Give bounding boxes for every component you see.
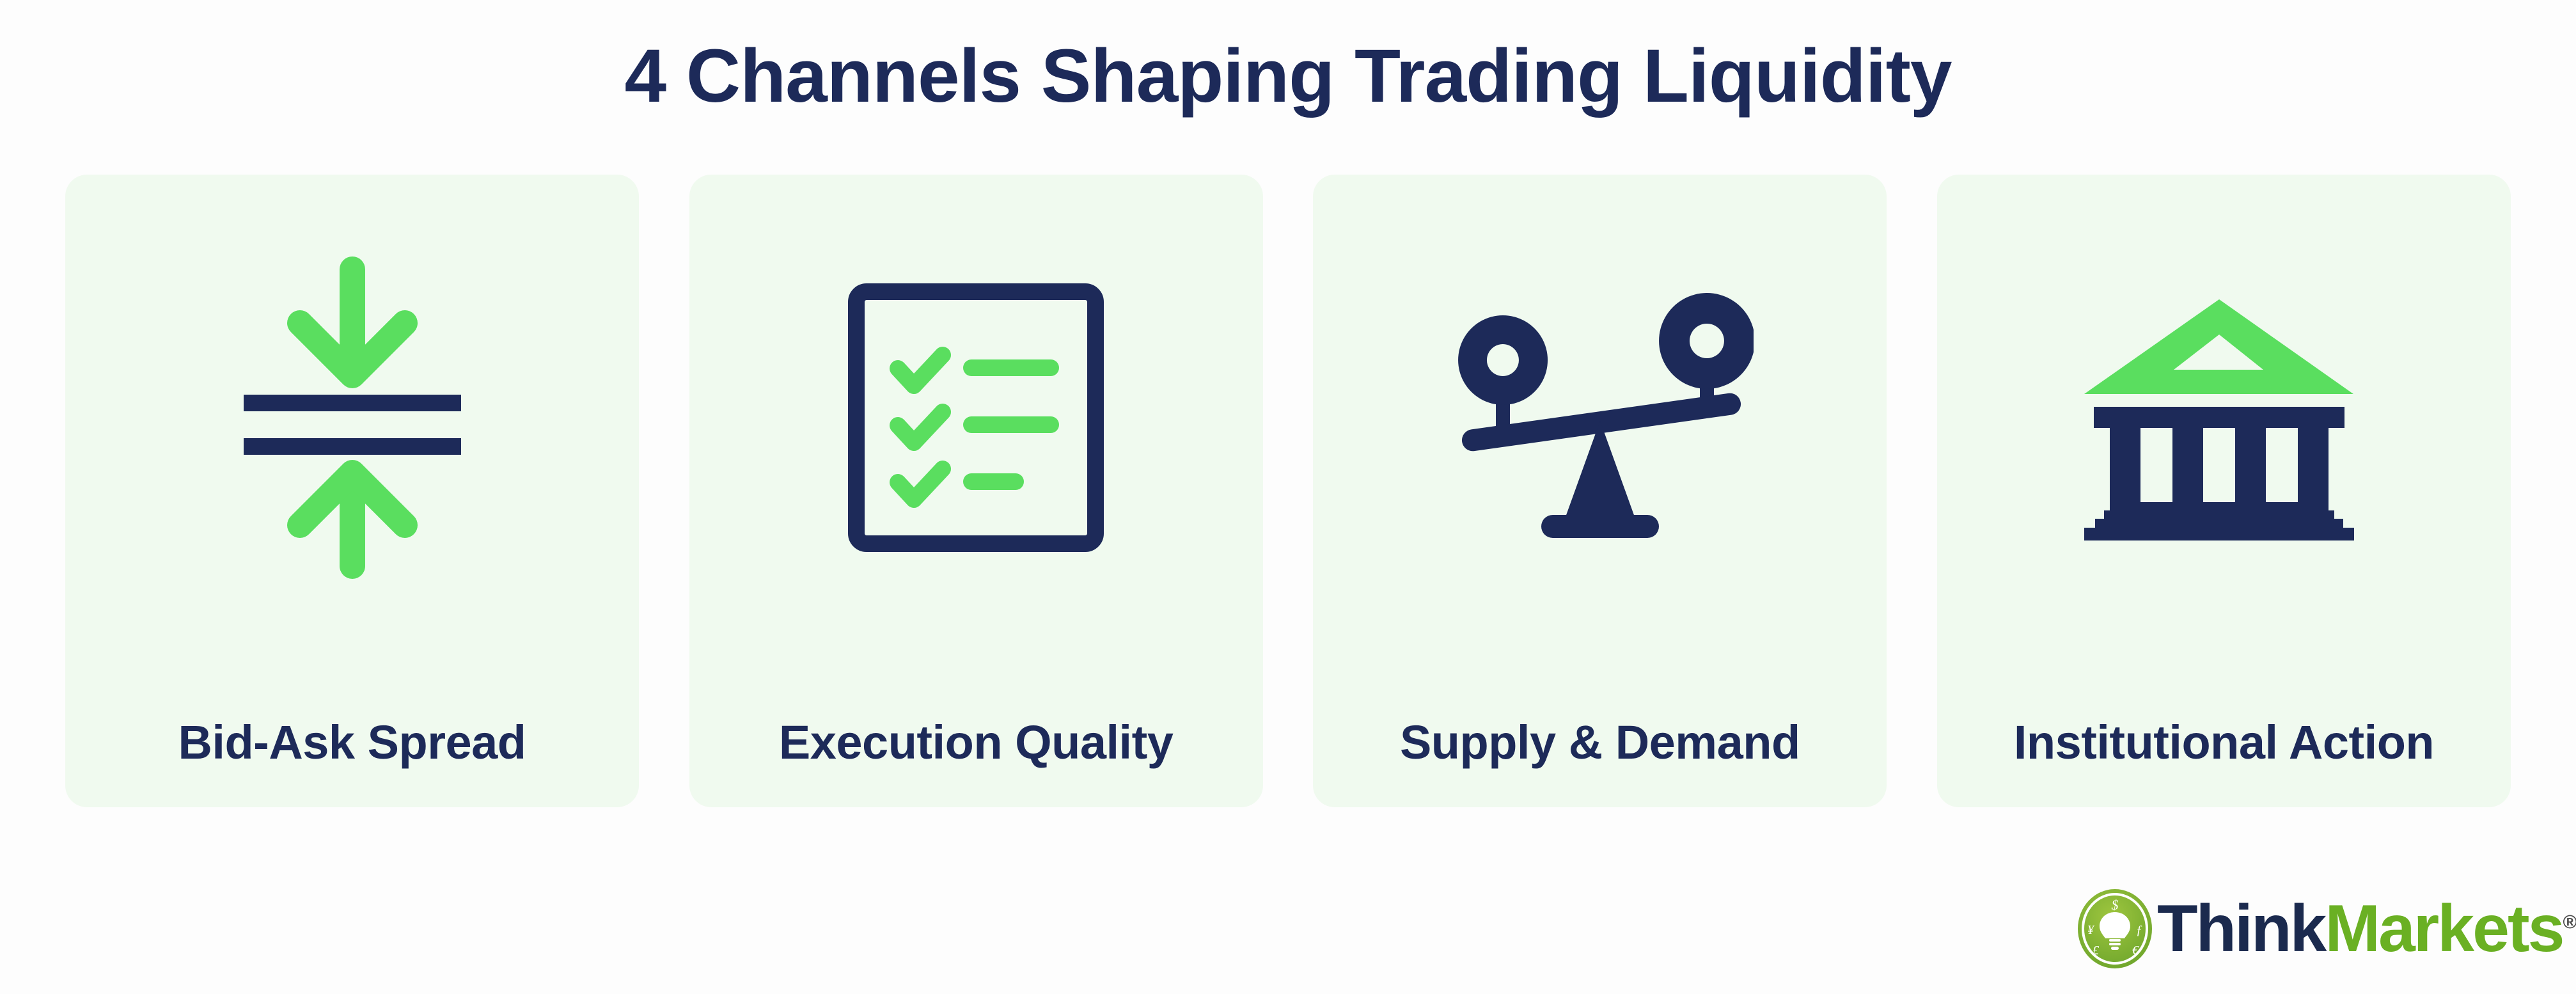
right-weight bbox=[1659, 293, 1754, 389]
base-steps bbox=[2084, 510, 2354, 540]
bid-ask-spread-icon bbox=[218, 251, 487, 584]
card-icon-slot bbox=[1313, 175, 1887, 661]
spread-line-lower bbox=[244, 438, 461, 455]
svg-text:€: € bbox=[2132, 943, 2139, 958]
card-label-bid-ask-spread: Bid-Ask Spread bbox=[65, 715, 639, 769]
page-title: 4 Channels Shaping Trading Liquidity bbox=[0, 29, 2576, 124]
brand-word-think: Think bbox=[2157, 892, 2325, 966]
card-icon-slot bbox=[65, 175, 639, 661]
pediment bbox=[2084, 299, 2353, 394]
card-execution-quality[interactable]: Execution Quality bbox=[689, 175, 1263, 807]
card-institutional-action[interactable]: Institutional Action bbox=[1937, 175, 2511, 807]
spread-line-upper bbox=[244, 395, 461, 411]
card-bid-ask-spread[interactable]: Bid-Ask Spread bbox=[65, 175, 639, 807]
brand-word-markets: Markets bbox=[2325, 892, 2563, 966]
brand-wordmark: ThinkMarkets® bbox=[2157, 895, 2576, 962]
registered-trademark-icon: ® bbox=[2563, 911, 2576, 933]
card-supply-demand[interactable]: Supply & Demand bbox=[1313, 175, 1887, 807]
entablature bbox=[2094, 407, 2344, 428]
columns bbox=[2110, 428, 2329, 510]
checklist-icon bbox=[848, 283, 1104, 552]
bank-building-icon bbox=[2080, 290, 2368, 546]
left-weight bbox=[1458, 315, 1548, 405]
channel-card-row: Bid-Ask Spread bbox=[65, 175, 2511, 807]
card-label-institutional-action: Institutional Action bbox=[1937, 715, 2511, 769]
thinkmarkets-emblem-icon: $ ¥ ƒ £ € bbox=[2074, 888, 2156, 970]
card-icon-slot bbox=[1937, 175, 2511, 661]
base-bar bbox=[1541, 515, 1659, 538]
svg-text:ƒ: ƒ bbox=[2136, 923, 2142, 937]
card-icon-slot bbox=[689, 175, 1263, 661]
balance-scale-icon bbox=[1447, 290, 1754, 546]
infographic-root: 4 Channels Shaping Trading Liquidity bbox=[0, 0, 2576, 994]
card-label-supply-demand: Supply & Demand bbox=[1313, 715, 1887, 769]
svg-text:£: £ bbox=[2093, 943, 2100, 958]
svg-text:$: $ bbox=[2112, 897, 2119, 913]
card-label-execution-quality: Execution Quality bbox=[689, 715, 1263, 769]
brand-logo[interactable]: $ ¥ ƒ £ € ThinkMarkets® bbox=[2074, 884, 2522, 974]
